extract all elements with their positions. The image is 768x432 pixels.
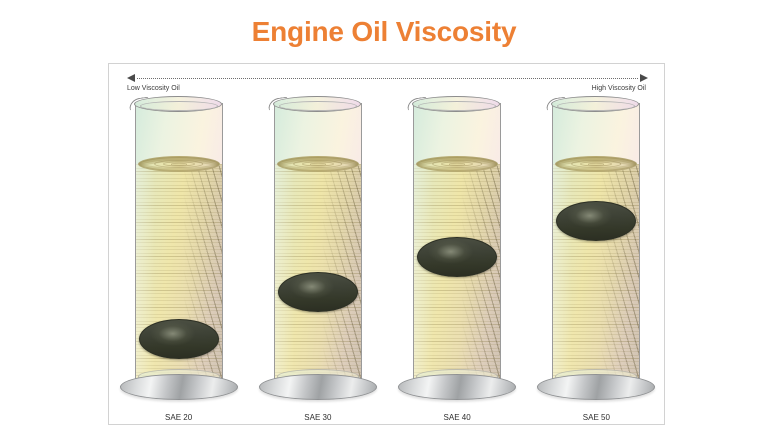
beaker-glass	[274, 95, 362, 387]
surface-ring	[171, 163, 187, 166]
diagram-frame: Low Viscosity Oil High Viscosity Oil SAE…	[108, 63, 665, 425]
glass-body	[274, 103, 362, 387]
beaker-column: SAE 50	[534, 91, 658, 426]
beaker-label: SAE 50	[534, 413, 658, 422]
glass-body	[413, 103, 501, 387]
oil-surface	[555, 156, 637, 172]
page-title: Engine Oil Viscosity	[0, 16, 768, 48]
oil-surface	[138, 156, 220, 172]
oil-surface	[416, 156, 498, 172]
beaker-glass	[552, 95, 640, 387]
beaker-rim-inner	[418, 101, 496, 111]
beaker-stand-base	[120, 374, 238, 400]
viscosity-axis	[127, 73, 648, 85]
glass-body	[552, 103, 640, 387]
oil-gloss	[553, 164, 639, 386]
beaker-label: SAE 30	[256, 413, 380, 422]
beaker-row: SAE 20SAE 30SAE 40SAE 50	[109, 91, 666, 426]
falling-ball	[417, 237, 497, 277]
oil-column	[414, 164, 500, 386]
beaker-rim-inner	[279, 101, 357, 111]
beaker-rim-inner	[557, 101, 635, 111]
beaker-stand-base	[398, 374, 516, 400]
viscosity-diagram-page: Engine Oil Viscosity Low Viscosity Oil H…	[0, 0, 768, 432]
beaker-column: SAE 40	[395, 91, 519, 426]
beaker-glass	[135, 95, 223, 387]
falling-ball	[556, 201, 636, 241]
arrow-right-icon	[640, 74, 648, 82]
beaker-label: SAE 40	[395, 413, 519, 422]
surface-ring	[588, 163, 604, 166]
glass-body	[135, 103, 223, 387]
falling-ball	[278, 272, 358, 312]
oil-column	[136, 164, 222, 386]
beaker-label: SAE 20	[117, 413, 241, 422]
beaker-column: SAE 20	[117, 91, 241, 426]
surface-ring	[449, 163, 465, 166]
beaker-rim-inner	[140, 101, 218, 111]
beaker-column: SAE 30	[256, 91, 380, 426]
oil-surface	[277, 156, 359, 172]
arrow-left-icon	[127, 74, 135, 82]
surface-ring	[310, 163, 326, 166]
beaker-stand-base	[537, 374, 655, 400]
oil-column	[553, 164, 639, 386]
beaker-stand-base	[259, 374, 377, 400]
beaker-glass	[413, 95, 501, 387]
falling-ball	[139, 319, 219, 359]
oil-column	[275, 164, 361, 386]
axis-dotted-line	[137, 78, 638, 79]
